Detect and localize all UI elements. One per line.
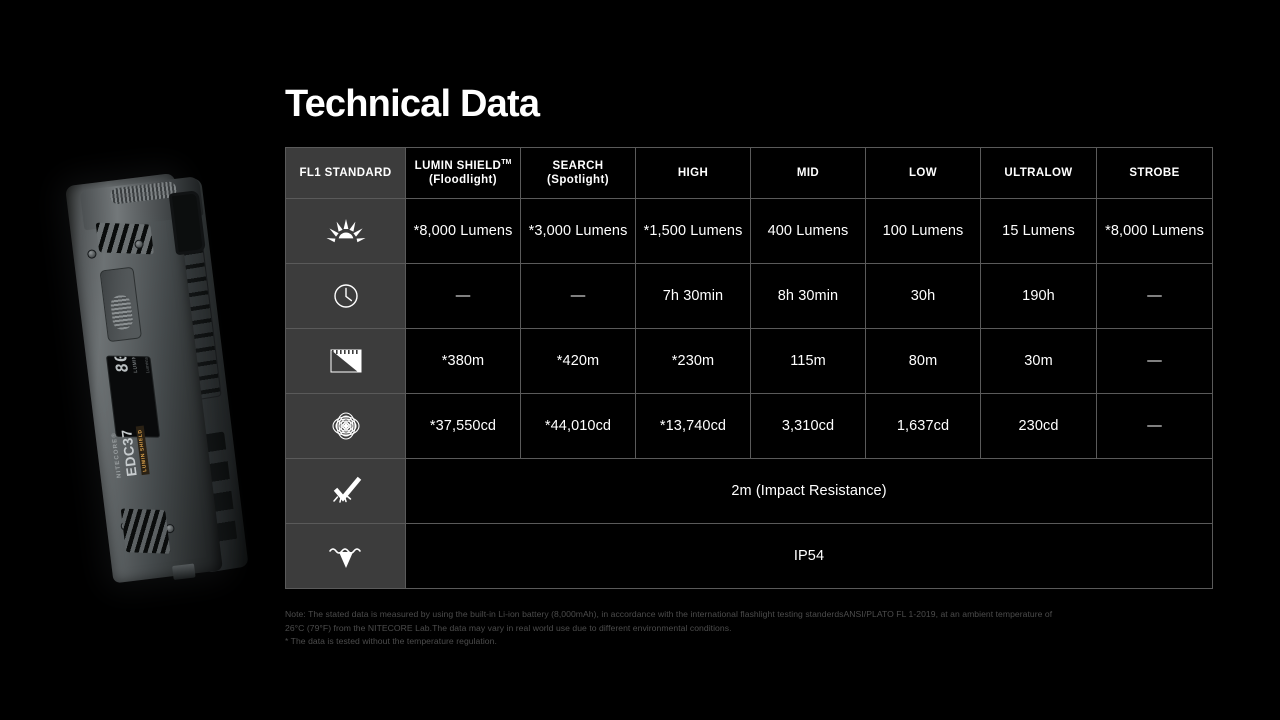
cell-search-intensity: *44,010cd (521, 394, 636, 459)
column-header-ultralow: ULTRALOW (981, 148, 1097, 199)
header-label: LOW (909, 167, 937, 179)
cell-lumin-lumens: *8,000 Lumens (406, 199, 521, 264)
table-row-runtime: — — 7h 30min 8h 30min 30h 190h — (286, 264, 1213, 329)
column-header-lumin-shield: LUMIN SHIELDTM (Floodlight) (406, 148, 521, 199)
bottom-vent-slots (121, 508, 171, 553)
water-resistance-icon (286, 524, 405, 588)
footnote-line-2: 26°C (79°F) from the NITECORE Lab.The da… (285, 622, 1210, 636)
knurled-bezel (110, 181, 177, 205)
table-body: *8,000 Lumens *3,000 Lumens *1,500 Lumen… (286, 199, 1213, 589)
footnote-line-3: * The data is tested without the tempera… (285, 635, 1210, 649)
header-label: SEARCH (553, 160, 604, 172)
column-header-strobe: STROBE (1097, 148, 1213, 199)
cell-search-distance: *420m (521, 329, 636, 394)
header-label: MID (797, 167, 819, 179)
cell-ultralow-intensity: 230cd (981, 394, 1097, 459)
cell-mid-lumens: 400 Lumens (751, 199, 866, 264)
cell-mid-runtime: 8h 30min (751, 264, 866, 329)
cell-strobe-lumens: *8,000 Lumens (1097, 199, 1213, 264)
row-icon-cell (286, 524, 406, 589)
display-lumen-value: 8000 (108, 356, 132, 373)
cell-high-lumens: *1,500 Lumens (636, 199, 751, 264)
technical-data-page: 8000 LUMIN SHIELD Lumens NITECORE® EDC37… (0, 0, 1280, 720)
cell-high-distance: *230m (636, 329, 751, 394)
header-sublabel: (Spotlight) (547, 174, 609, 186)
display-unit-label: Lumens (143, 357, 150, 373)
cell-search-lumens: *3,000 Lumens (521, 199, 636, 264)
sunburst-icon (286, 199, 405, 263)
header-label: FL1 STANDARD (299, 167, 391, 179)
cell-ultralow-runtime: 190h (981, 264, 1097, 329)
column-header-low: LOW (866, 148, 981, 199)
footnote: Note: The stated data is measured by usi… (285, 608, 1210, 649)
column-header-high: HIGH (636, 148, 751, 199)
product-image: 8000 LUMIN SHIELD Lumens NITECORE® EDC37… (40, 140, 270, 600)
header-label: LUMIN SHIELD (415, 160, 502, 172)
brand-marking: NITECORE® EDC37 LUMIN SHIELD (111, 426, 150, 478)
cell-lumin-distance: *380m (406, 329, 521, 394)
column-header-mid: MID (751, 148, 866, 199)
table-header: FL1 STANDARD LUMIN SHIELDTM (Floodlight)… (286, 148, 1213, 199)
cell-lumin-intensity: *37,550cd (406, 394, 521, 459)
cell-water-resistance-value: IP54 (406, 524, 1213, 589)
table-row-luminous-output: *8,000 Lumens *3,000 Lumens *1,500 Lumen… (286, 199, 1213, 264)
tail-cap (172, 563, 196, 580)
column-header-fl1-standard: FL1 STANDARD (286, 148, 406, 199)
cell-strobe-runtime: — (1097, 264, 1213, 329)
cell-search-runtime: — (521, 264, 636, 329)
trademark-symbol: TM (501, 159, 511, 166)
table-row-water-resistance: IP54 (286, 524, 1213, 589)
mode-switch (100, 267, 143, 343)
table-row-peak-beam-intensity: *37,550cd *44,010cd *13,740cd 3,310cd 1,… (286, 394, 1213, 459)
cell-strobe-distance: — (1097, 329, 1213, 394)
cell-low-intensity: 1,637cd (866, 394, 981, 459)
cell-mid-intensity: 3,310cd (751, 394, 866, 459)
cell-impact-resistance-value: 2m (Impact Resistance) (406, 459, 1213, 524)
table-header-row: FL1 STANDARD LUMIN SHIELDTM (Floodlight)… (286, 148, 1213, 199)
cell-strobe-intensity: — (1097, 394, 1213, 459)
table-row-beam-distance: *380m *420m *230m 115m 80m 30m — (286, 329, 1213, 394)
cell-low-distance: 80m (866, 329, 981, 394)
flashlight-render: 8000 LUMIN SHIELD Lumens NITECORE® EDC37… (52, 147, 253, 592)
header-sublabel: (Floodlight) (429, 174, 497, 186)
impact-resistance-icon (286, 459, 405, 523)
cell-low-lumens: 100 Lumens (866, 199, 981, 264)
row-icon-cell (286, 329, 406, 394)
screw-icon (87, 249, 97, 259)
heat-fins (96, 223, 154, 255)
table-row-impact-resistance: 2m (Impact Resistance) (286, 459, 1213, 524)
clock-icon (286, 264, 405, 328)
page-title: Technical Data (285, 83, 539, 126)
cell-mid-distance: 115m (751, 329, 866, 394)
technical-data-table: FL1 STANDARD LUMIN SHIELDTM (Floodlight)… (285, 147, 1213, 589)
row-icon-cell (286, 264, 406, 329)
row-icon-cell (286, 459, 406, 524)
header-label: STROBE (1129, 167, 1179, 179)
cell-low-runtime: 30h (866, 264, 981, 329)
cell-lumin-runtime: — (406, 264, 521, 329)
header-label: HIGH (678, 167, 708, 179)
row-icon-cell (286, 394, 406, 459)
oled-display: 8000 LUMIN SHIELD Lumens (106, 356, 160, 438)
cell-high-runtime: 7h 30min (636, 264, 751, 329)
cell-ultralow-distance: 30m (981, 329, 1097, 394)
switch-pad-texture (110, 294, 134, 330)
column-header-search: SEARCH (Spotlight) (521, 148, 636, 199)
peak-beam-intensity-icon (286, 394, 405, 458)
row-icon-cell (286, 199, 406, 264)
cell-high-intensity: *13,740cd (636, 394, 751, 459)
footnote-line-1: Note: The stated data is measured by usi… (285, 608, 1210, 622)
beam-distance-icon (286, 329, 405, 393)
header-label: ULTRALOW (1004, 167, 1072, 179)
cell-ultralow-lumens: 15 Lumens (981, 199, 1097, 264)
